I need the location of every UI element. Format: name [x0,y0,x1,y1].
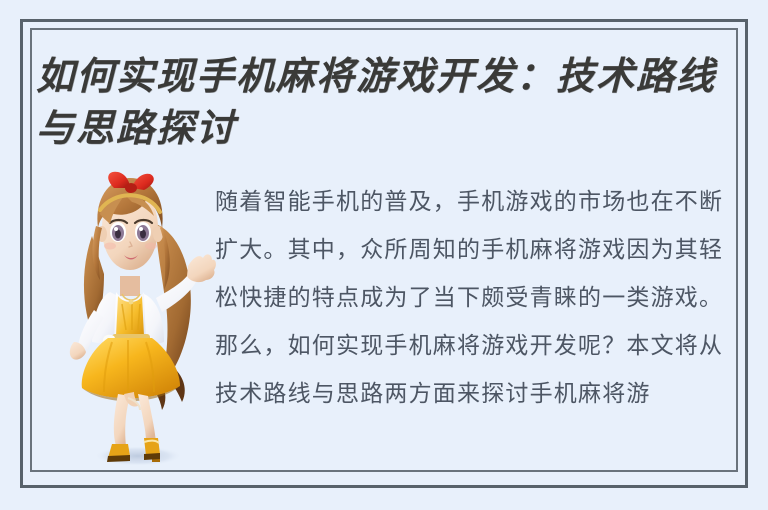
shoe-right-sole [144,453,160,460]
bow-knot [125,183,137,193]
eye-highlight-left [114,227,118,231]
page-title: 如何实现手机麻将游戏开发：技术路线与思路探讨 [36,50,736,154]
anime-girl-svg [60,170,216,472]
character-illustration [60,170,216,472]
eye-highlight-right [139,227,143,231]
shoe-left-sole [107,455,130,462]
character-shadow [94,446,182,466]
blush-right [145,243,157,250]
neck [120,276,140,296]
hand-right [187,254,216,282]
necklace-pendant [129,300,134,305]
blush-left [104,243,116,250]
leg-right [138,394,156,442]
skirt [82,338,180,398]
article-card: 如何实现手机麻将游戏开发：技术路线与思路探讨 [0,0,768,510]
article-body: 随着智能手机的普及，手机游戏的市场也在不断扩大。其中，众所周知的手机麻将游戏因为… [215,178,735,472]
